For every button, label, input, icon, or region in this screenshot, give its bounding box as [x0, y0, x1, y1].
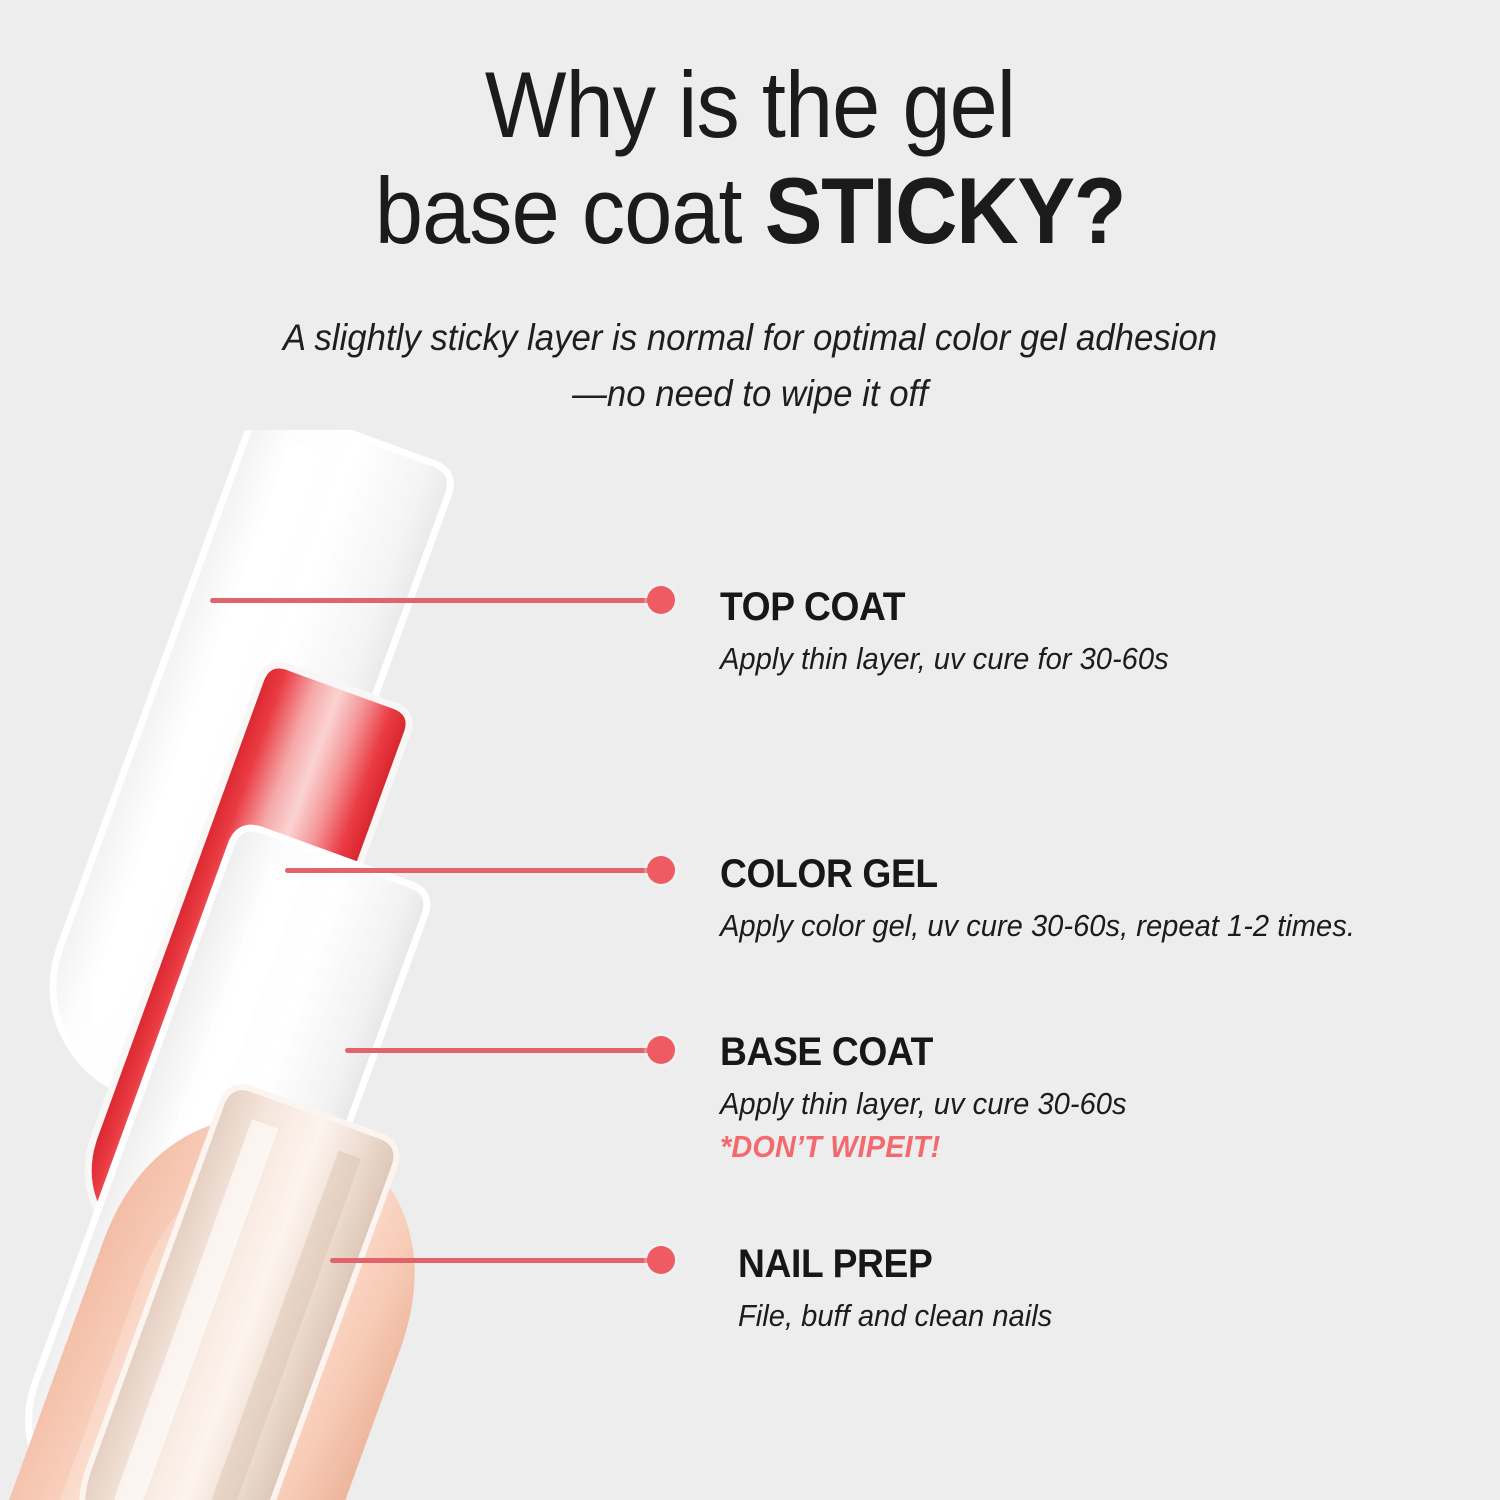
title-emphasis-sticky: STICKY? [765, 158, 1125, 263]
callout-line-top-coat [210, 598, 660, 603]
callout-desc-color-gel: Apply color gel, uv cure 30-60s, repeat … [720, 906, 1355, 947]
title-line-2-plain: base coat [375, 158, 765, 263]
callout-dot-nail-prep [647, 1246, 675, 1274]
callout-line-nail-prep [330, 1258, 660, 1263]
callout-text-nail-prep: NAIL PREP File, buff and clean nails [738, 1242, 1072, 1337]
callout-desc-nail-prep: File, buff and clean nails [738, 1296, 1052, 1337]
title-line-1: Why is the gel [60, 52, 1440, 158]
callout-heading-color-gel: COLOR GEL [720, 852, 1348, 897]
callout-text-base-coat: BASE COAT Apply thin layer, uv cure 30-6… [720, 1030, 1153, 1165]
callout-line-base-coat [345, 1048, 660, 1053]
subtitle-line-2: —no need to wipe it off [45, 366, 1455, 422]
callout-text-color-gel: COLOR GEL Apply color gel, uv cure 30-60… [720, 852, 1395, 947]
callout-heading-top-coat: TOP COAT [720, 585, 1164, 630]
header: Why is the gel base coat STICKY? [0, 52, 1500, 264]
page-subtitle: A slightly sticky layer is normal for op… [45, 310, 1455, 421]
title-line-2: base coat STICKY? [60, 158, 1440, 264]
callout-line-color-gel [285, 868, 660, 873]
infographic-canvas: Why is the gel base coat STICKY? A sligh… [0, 0, 1500, 1500]
subtitle-line-1: A slightly sticky layer is normal for op… [45, 310, 1455, 366]
callout-dot-top-coat [647, 586, 675, 614]
callout-dot-base-coat [647, 1036, 675, 1064]
callout-desc-top-coat: Apply thin layer, uv cure for 30-60s [720, 639, 1169, 680]
callout-dot-color-gel [647, 856, 675, 884]
callout-warning-base-coat: *DON’T WIPEIT! [720, 1129, 1122, 1165]
callout-heading-nail-prep: NAIL PREP [738, 1242, 1049, 1287]
page-title: Why is the gel base coat STICKY? [60, 52, 1440, 264]
callout-desc-base-coat: Apply thin layer, uv cure 30-60s [720, 1084, 1127, 1125]
callout-text-top-coat: TOP COAT Apply thin layer, uv cure for 3… [720, 585, 1197, 680]
callout-heading-base-coat: BASE COAT [720, 1030, 1122, 1075]
nail-layers-illustration [0, 430, 700, 1500]
